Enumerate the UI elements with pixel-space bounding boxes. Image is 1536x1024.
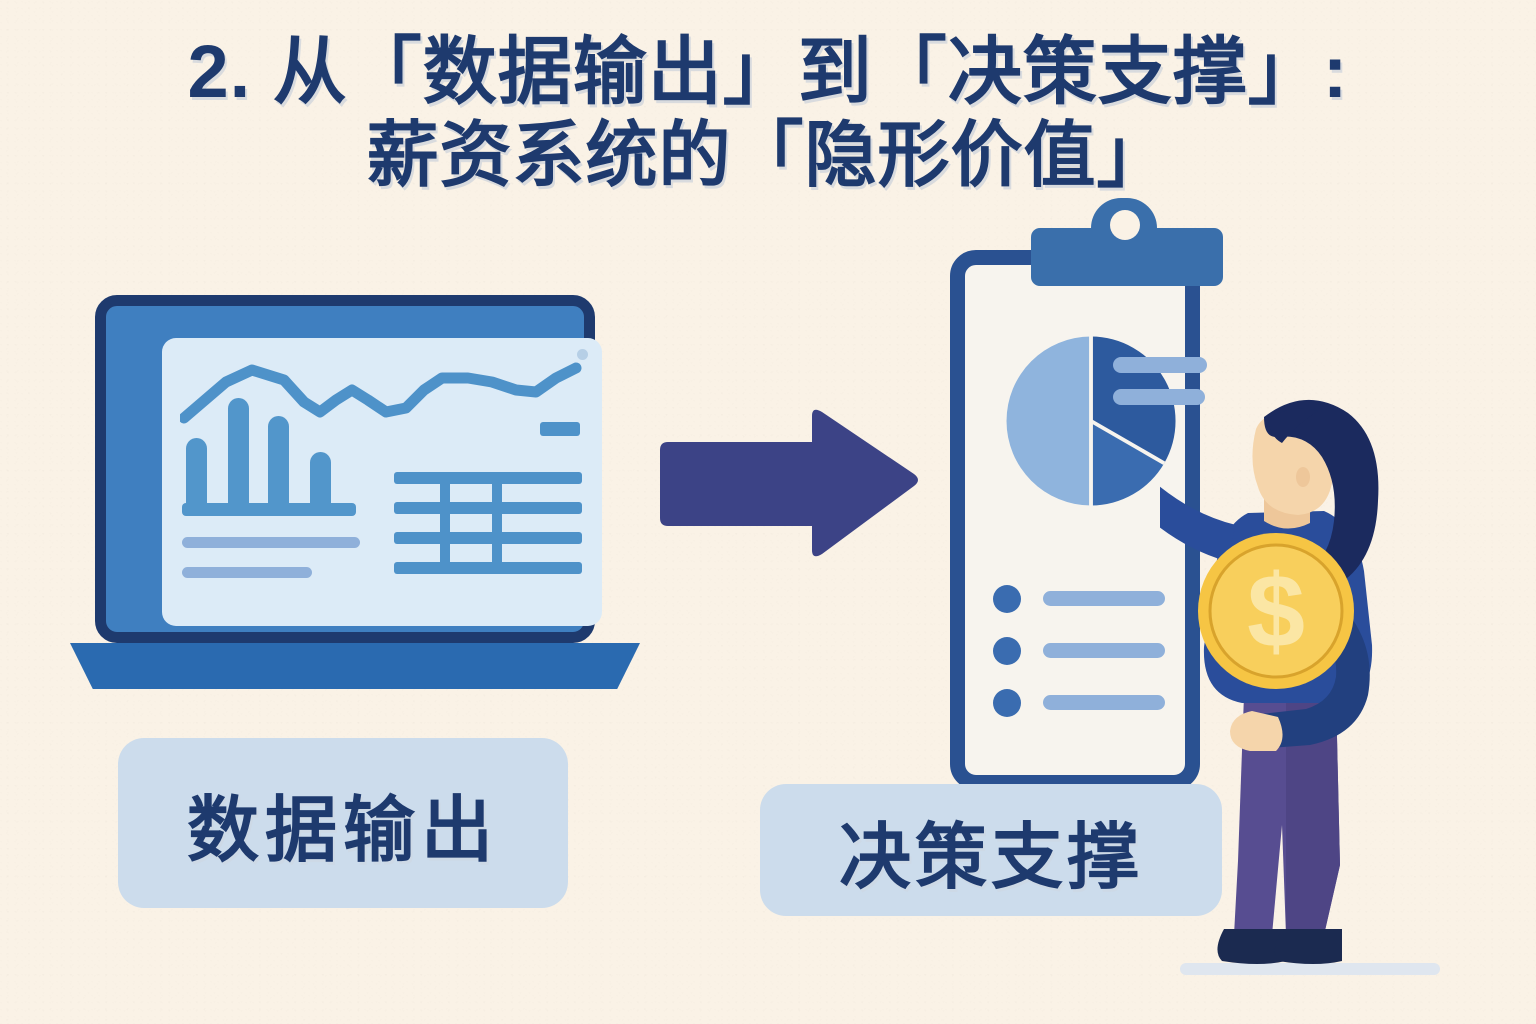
screen-text-line-1	[182, 537, 360, 548]
title-line-2: 薪资系统的「隐形价值」	[0, 118, 1536, 196]
bar-2	[228, 398, 249, 508]
bar-3	[268, 416, 289, 508]
bullet-dot-2	[993, 637, 1021, 665]
laptop-illustration	[70, 295, 670, 695]
table-col-divider-1	[440, 478, 450, 570]
clipboard-clip-hole	[1110, 210, 1140, 240]
screen-text-line-2	[182, 567, 312, 578]
bar-chart-baseline	[182, 503, 356, 516]
bullet-line-3	[1043, 695, 1165, 710]
laptop-screen	[162, 338, 602, 626]
table-row-3	[394, 532, 582, 544]
gold-coin-icon: $	[1196, 531, 1356, 691]
label-pill-data-output: 数据输出	[118, 738, 568, 908]
title-line-1: 2. 从「数据输出」到「决策支撑」:	[0, 32, 1536, 112]
label-pill-decision-support: 决策支撑	[760, 784, 1222, 916]
bullet-line-2	[1043, 643, 1165, 658]
table-row-1	[394, 472, 582, 484]
page-title: 2. 从「数据输出」到「决策支撑」: 薪资系统的「隐形价值」	[0, 32, 1536, 196]
table-row-2	[394, 502, 582, 514]
infographic-canvas: 2. 从「数据输出」到「决策支撑」: 薪资系统的「隐形价值」	[0, 0, 1536, 1024]
table-col-divider-2	[492, 478, 502, 570]
right-arrow-icon	[652, 406, 924, 562]
table-row-4	[394, 562, 582, 574]
bar-4	[310, 452, 331, 508]
bullet-line-1	[1043, 591, 1165, 606]
bullet-dot-3	[993, 689, 1021, 717]
laptop-base	[70, 643, 640, 689]
bar-1	[186, 438, 207, 508]
bullet-dot-1	[993, 585, 1021, 613]
clipboard-header-line-1	[1113, 357, 1207, 373]
laptop-lid	[95, 295, 595, 643]
coin-dollar-symbol: $	[1247, 554, 1305, 670]
screen-legend-block	[540, 422, 580, 436]
